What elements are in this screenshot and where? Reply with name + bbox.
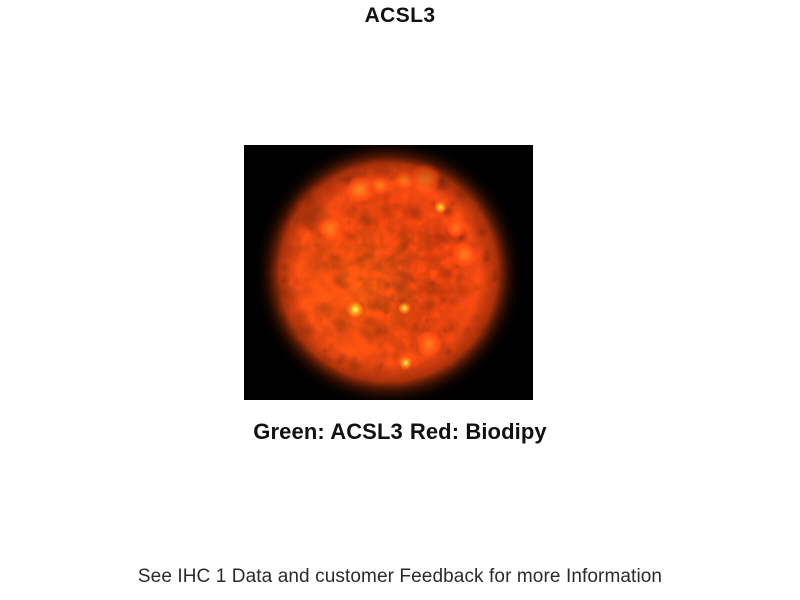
figure-footer-note: See IHC 1 Data and customer Feedback for… xyxy=(0,566,800,588)
caption-red-channel: Red: Biodipy xyxy=(410,419,547,444)
figure-caption: Green: ACSL3Red: Biodipy xyxy=(0,419,800,445)
figure-title: ACSL3 xyxy=(0,4,800,28)
caption-green-channel: Green: ACSL3 xyxy=(253,419,403,444)
immunofluorescence-micrograph xyxy=(244,145,533,400)
micrograph-panel xyxy=(244,145,533,400)
